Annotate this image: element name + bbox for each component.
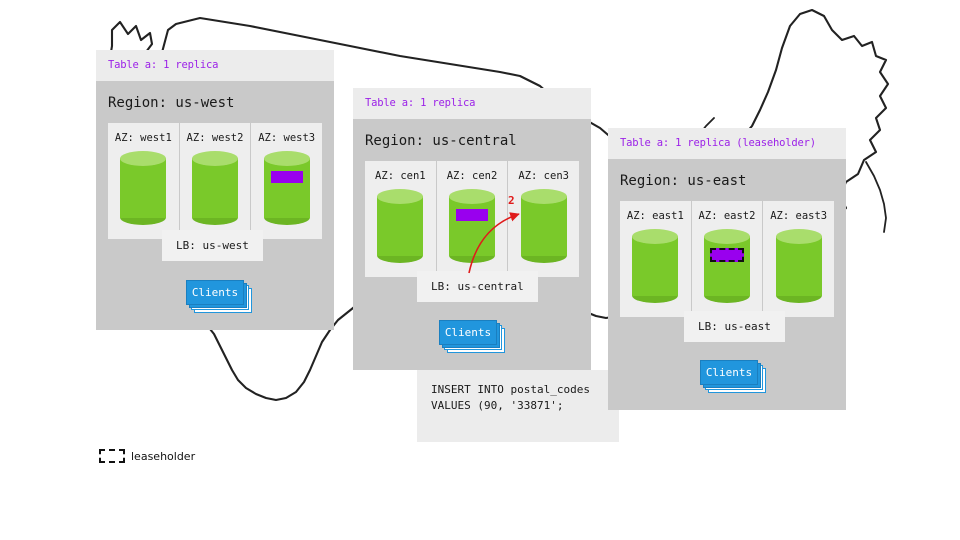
node-cylinder-icon[interactable] [120, 151, 166, 225]
clients-button-us-west[interactable]: Clients [186, 280, 254, 314]
load-balancer-chip-us-west[interactable]: LB: us-west [162, 230, 263, 261]
region-panel-us-central: Table a: 1 replica Region: us-central AZ… [353, 88, 591, 370]
az-label: AZ: east3 [763, 210, 834, 222]
az-cell-east3[interactable]: AZ: east3 [763, 201, 834, 317]
az-label: AZ: west1 [108, 132, 179, 144]
node-cylinder-icon[interactable] [776, 229, 822, 303]
load-balancer-chip-us-east[interactable]: LB: us-east [684, 311, 785, 342]
table-replica-banner: Table a: 1 replica [96, 50, 334, 81]
az-strip: AZ: east1 AZ: east2 AZ: east3 [620, 201, 834, 317]
az-label: AZ: east1 [620, 210, 691, 222]
table-replica-banner: Table a: 1 replica (leaseholder) [608, 128, 846, 159]
region-title: Region: us-east [608, 159, 846, 201]
sql-statement-panel: INSERT INTO postal_codes VALUES (90, '33… [417, 370, 619, 442]
cylinder-body [704, 236, 750, 296]
clients-button-us-east[interactable]: Clients [700, 360, 768, 394]
cylinder-body [776, 236, 822, 296]
node-cylinder-icon[interactable] [704, 229, 750, 303]
cylinder-top [776, 229, 822, 244]
region-panel-us-east: Table a: 1 replica (leaseholder) Region:… [608, 128, 846, 410]
az-cell-west1[interactable]: AZ: west1 [108, 123, 180, 239]
cylinder-top [632, 229, 678, 244]
clients-card-front[interactable]: Clients [700, 360, 758, 385]
cylinder-top [521, 189, 567, 204]
clients-card-front[interactable]: Clients [439, 320, 497, 345]
cylinder-top [192, 151, 238, 166]
region-panel-us-west: Table a: 1 replica Region: us-west AZ: w… [96, 50, 334, 330]
cylinder-top [120, 151, 166, 166]
az-label: AZ: cen2 [437, 170, 508, 182]
az-cell-cen1[interactable]: AZ: cen1 [365, 161, 437, 277]
az-cell-east1[interactable]: AZ: east1 [620, 201, 692, 317]
az-cell-cen2[interactable]: AZ: cen2 [437, 161, 509, 277]
replica-marker [271, 171, 303, 183]
cylinder-body [120, 158, 166, 218]
diagram-canvas: Table a: 1 replica Region: us-west AZ: w… [0, 0, 960, 540]
az-cell-east2[interactable]: AZ: east2 [692, 201, 764, 317]
az-cell-west3[interactable]: AZ: west3 [251, 123, 322, 239]
az-label: AZ: east2 [692, 210, 763, 222]
node-cylinder-icon[interactable] [377, 189, 423, 263]
leaseholder-replica-marker [710, 248, 744, 262]
az-strip: AZ: west1 AZ: west2 AZ: west3 [108, 123, 322, 239]
cylinder-body [449, 196, 495, 256]
node-cylinder-icon[interactable] [449, 189, 495, 263]
region-title: Region: us-west [96, 81, 334, 123]
table-replica-banner: Table a: 1 replica [353, 88, 591, 119]
legend-label: leaseholder [131, 450, 195, 463]
cylinder-top [377, 189, 423, 204]
node-cylinder-icon[interactable] [521, 189, 567, 263]
az-strip: AZ: cen1 AZ: cen2 AZ: cen3 [365, 161, 579, 277]
node-cylinder-icon[interactable] [264, 151, 310, 225]
cylinder-top [704, 229, 750, 244]
az-label: AZ: cen3 [508, 170, 579, 182]
cylinder-body [521, 196, 567, 256]
clients-button-us-central[interactable]: Clients [439, 320, 507, 354]
clients-card-front[interactable]: Clients [186, 280, 244, 305]
replica-marker [456, 209, 488, 221]
az-label: AZ: west2 [180, 132, 251, 144]
cylinder-body [264, 158, 310, 218]
node-cylinder-icon[interactable] [632, 229, 678, 303]
step-number-label: 2 [508, 194, 515, 207]
cylinder-top [449, 189, 495, 204]
az-cell-west2[interactable]: AZ: west2 [180, 123, 252, 239]
cylinder-top [264, 151, 310, 166]
cylinder-body [632, 236, 678, 296]
cylinder-body [377, 196, 423, 256]
cylinder-body [192, 158, 238, 218]
legend: leaseholder [99, 449, 195, 463]
az-label: AZ: cen1 [365, 170, 436, 182]
region-title: Region: us-central [353, 119, 591, 161]
load-balancer-chip-us-central[interactable]: LB: us-central [417, 271, 538, 302]
node-cylinder-icon[interactable] [192, 151, 238, 225]
dashed-rect-icon [99, 449, 125, 463]
az-cell-cen3[interactable]: AZ: cen3 [508, 161, 579, 277]
az-label: AZ: west3 [251, 132, 322, 144]
